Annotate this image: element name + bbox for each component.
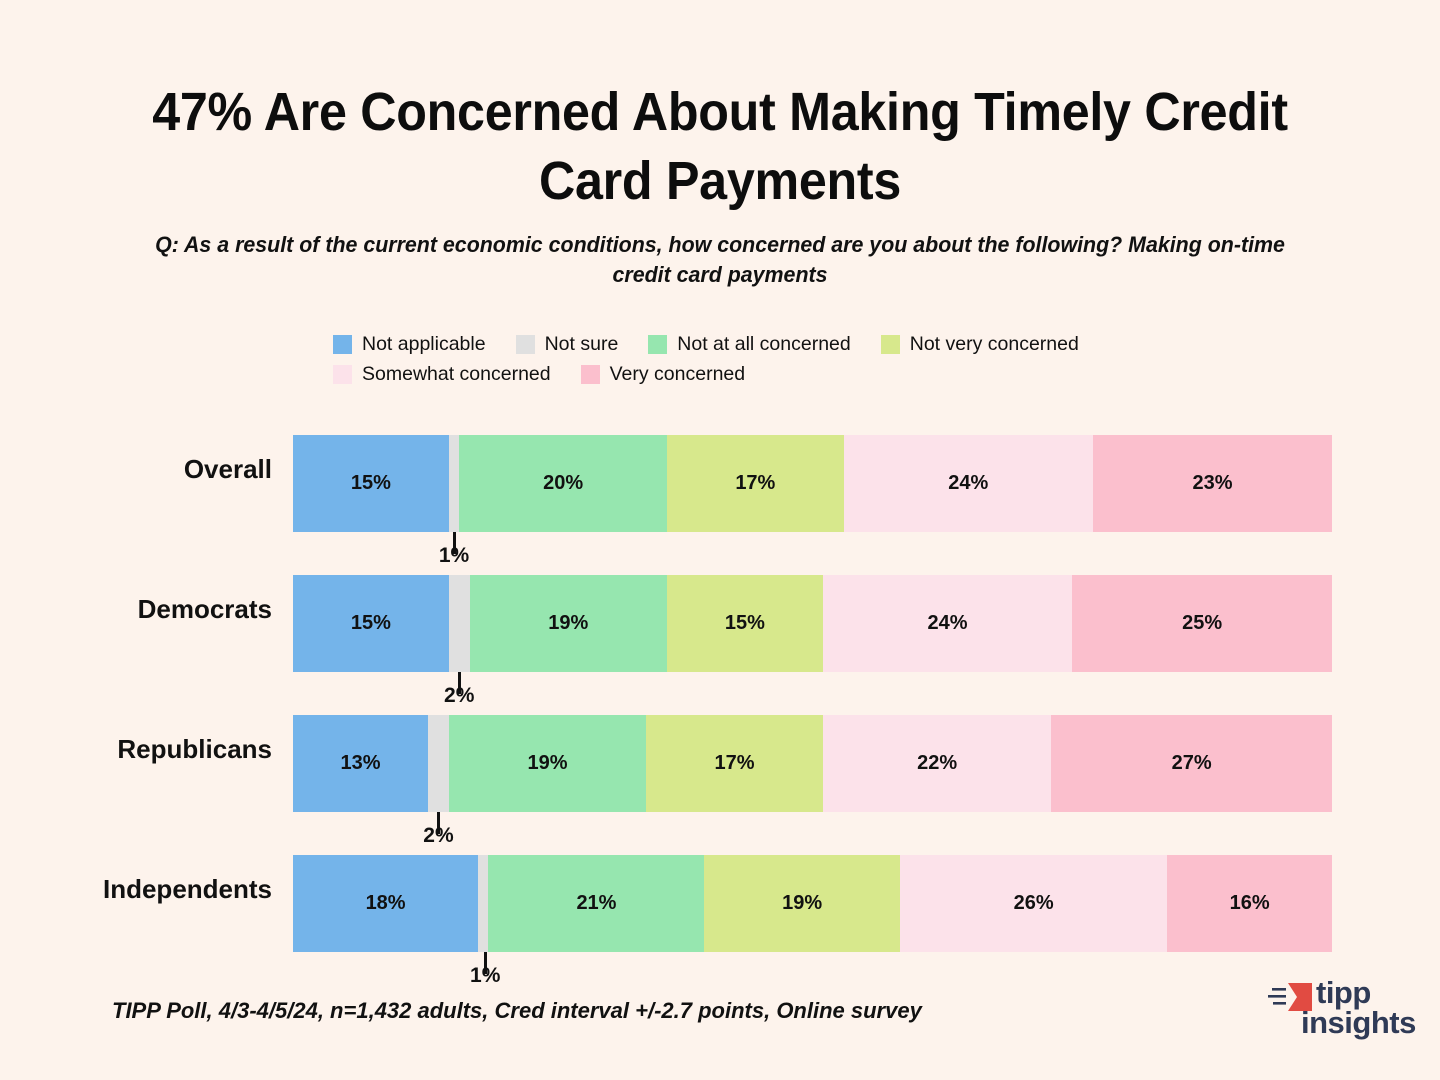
legend-item[interactable]: Very concerned <box>581 363 746 385</box>
bar-segment-value: 21% <box>576 892 616 915</box>
callout-value: 1% <box>470 964 500 988</box>
bar-segment-value: 13% <box>341 752 381 775</box>
bar-segment[interactable]: 18% <box>293 855 478 952</box>
bar-segment[interactable]: 17% <box>646 715 823 812</box>
bar-segment[interactable]: 24% <box>823 575 1072 672</box>
legend-label: Not sure <box>545 333 619 356</box>
stacked-bar-chart: Overall15%20%17%24%23%1%Democrats15%19%1… <box>0 424 1440 964</box>
bar-segment-value: 23% <box>1192 472 1232 495</box>
bar-segment[interactable]: 21% <box>488 855 704 952</box>
legend-label: Not at all concerned <box>677 333 850 356</box>
bar-segment-value: 20% <box>543 472 583 495</box>
legend-item[interactable]: Not very concerned <box>881 333 1079 355</box>
stacked-bar: 18%21%19%26%16% <box>293 855 1332 952</box>
chart-legend: Not applicableNot sureNot at all concern… <box>333 333 1333 385</box>
stacked-bar: 13%19%17%22%27% <box>293 715 1332 812</box>
chart-row: Overall15%20%17%24%23%1% <box>0 424 1440 564</box>
bar-segment[interactable]: 15% <box>667 575 823 672</box>
bar-segment-value: 18% <box>366 892 406 915</box>
bar-segment[interactable]: 16% <box>1167 855 1332 952</box>
row-category-label: Independents <box>0 874 272 905</box>
legend-swatch-icon <box>516 335 535 354</box>
legend-swatch-icon <box>333 365 352 384</box>
legend-item[interactable]: Not sure <box>516 333 619 355</box>
bar-segment-value: 25% <box>1182 612 1222 635</box>
legend-swatch-icon <box>581 365 600 384</box>
source-footnote: TIPP Poll, 4/3-4/5/24, n=1,432 adults, C… <box>112 998 922 1024</box>
bar-segment-value: 17% <box>715 752 755 775</box>
legend-swatch-icon <box>333 335 352 354</box>
bar-segment-value: 15% <box>351 612 391 635</box>
tipp-insights-logo: tipp insights <box>1268 978 1428 1044</box>
bar-segment[interactable]: 17% <box>667 435 844 532</box>
stacked-bar: 15%19%15%24%25% <box>293 575 1332 672</box>
legend-swatch-icon <box>648 335 667 354</box>
bar-segment[interactable]: 26% <box>900 855 1167 952</box>
bar-segment-value: 19% <box>548 612 588 635</box>
bar-segment[interactable] <box>478 855 488 952</box>
legend-item[interactable]: Not at all concerned <box>648 333 850 355</box>
bar-segment-value: 16% <box>1230 892 1270 915</box>
bar-segment-value: 15% <box>725 612 765 635</box>
bar-segment[interactable] <box>449 435 459 532</box>
legend-swatch-icon <box>881 335 900 354</box>
bar-segment[interactable]: 15% <box>293 575 449 672</box>
bar-segment[interactable]: 23% <box>1093 435 1332 532</box>
bar-segment[interactable]: 25% <box>1072 575 1332 672</box>
bar-segment-value: 24% <box>928 612 968 635</box>
bar-segment-value: 19% <box>782 892 822 915</box>
bar-segment[interactable]: 24% <box>844 435 1093 532</box>
legend-label: Very concerned <box>610 363 746 386</box>
bar-segment-value: 27% <box>1172 752 1212 775</box>
chart-row: Independents18%21%19%26%16%1% <box>0 844 1440 984</box>
chart-row: Republicans13%19%17%22%27%2% <box>0 704 1440 844</box>
chart-title: 47% Are Concerned About Making Timely Cr… <box>134 78 1306 216</box>
legend-item[interactable]: Not applicable <box>333 333 486 355</box>
bar-segment[interactable]: 19% <box>449 715 646 812</box>
stacked-bar: 15%20%17%24%23% <box>293 435 1332 532</box>
bar-segment-value: 19% <box>528 752 568 775</box>
bar-segment[interactable]: 20% <box>459 435 667 532</box>
legend-label: Somewhat concerned <box>362 363 551 386</box>
row-category-label: Republicans <box>0 734 272 765</box>
bar-segment[interactable] <box>449 575 470 672</box>
legend-item[interactable]: Somewhat concerned <box>333 363 551 385</box>
bar-segment-value: 22% <box>917 752 957 775</box>
chart-subtitle: Q: As a result of the current economic c… <box>141 230 1300 291</box>
bar-segment[interactable]: 19% <box>704 855 899 952</box>
bar-segment[interactable]: 15% <box>293 435 449 532</box>
logo-text-line2: insights <box>1301 1008 1416 1037</box>
bar-segment[interactable]: 19% <box>470 575 667 672</box>
logo-text-line1: tipp <box>1316 978 1371 1007</box>
bar-segment-value: 24% <box>948 472 988 495</box>
row-category-label: Overall <box>0 454 272 485</box>
bar-segment-value: 15% <box>351 472 391 495</box>
chart-row: Democrats15%19%15%24%25%2% <box>0 564 1440 704</box>
bar-segment[interactable]: 22% <box>823 715 1052 812</box>
bar-segment[interactable]: 27% <box>1051 715 1332 812</box>
bar-segment-value: 26% <box>1014 892 1054 915</box>
bar-segment[interactable]: 13% <box>293 715 428 812</box>
bar-segment-value: 17% <box>735 472 775 495</box>
legend-label: Not very concerned <box>910 333 1079 356</box>
bar-segment[interactable] <box>428 715 449 812</box>
row-category-label: Democrats <box>0 594 272 625</box>
legend-label: Not applicable <box>362 333 486 356</box>
